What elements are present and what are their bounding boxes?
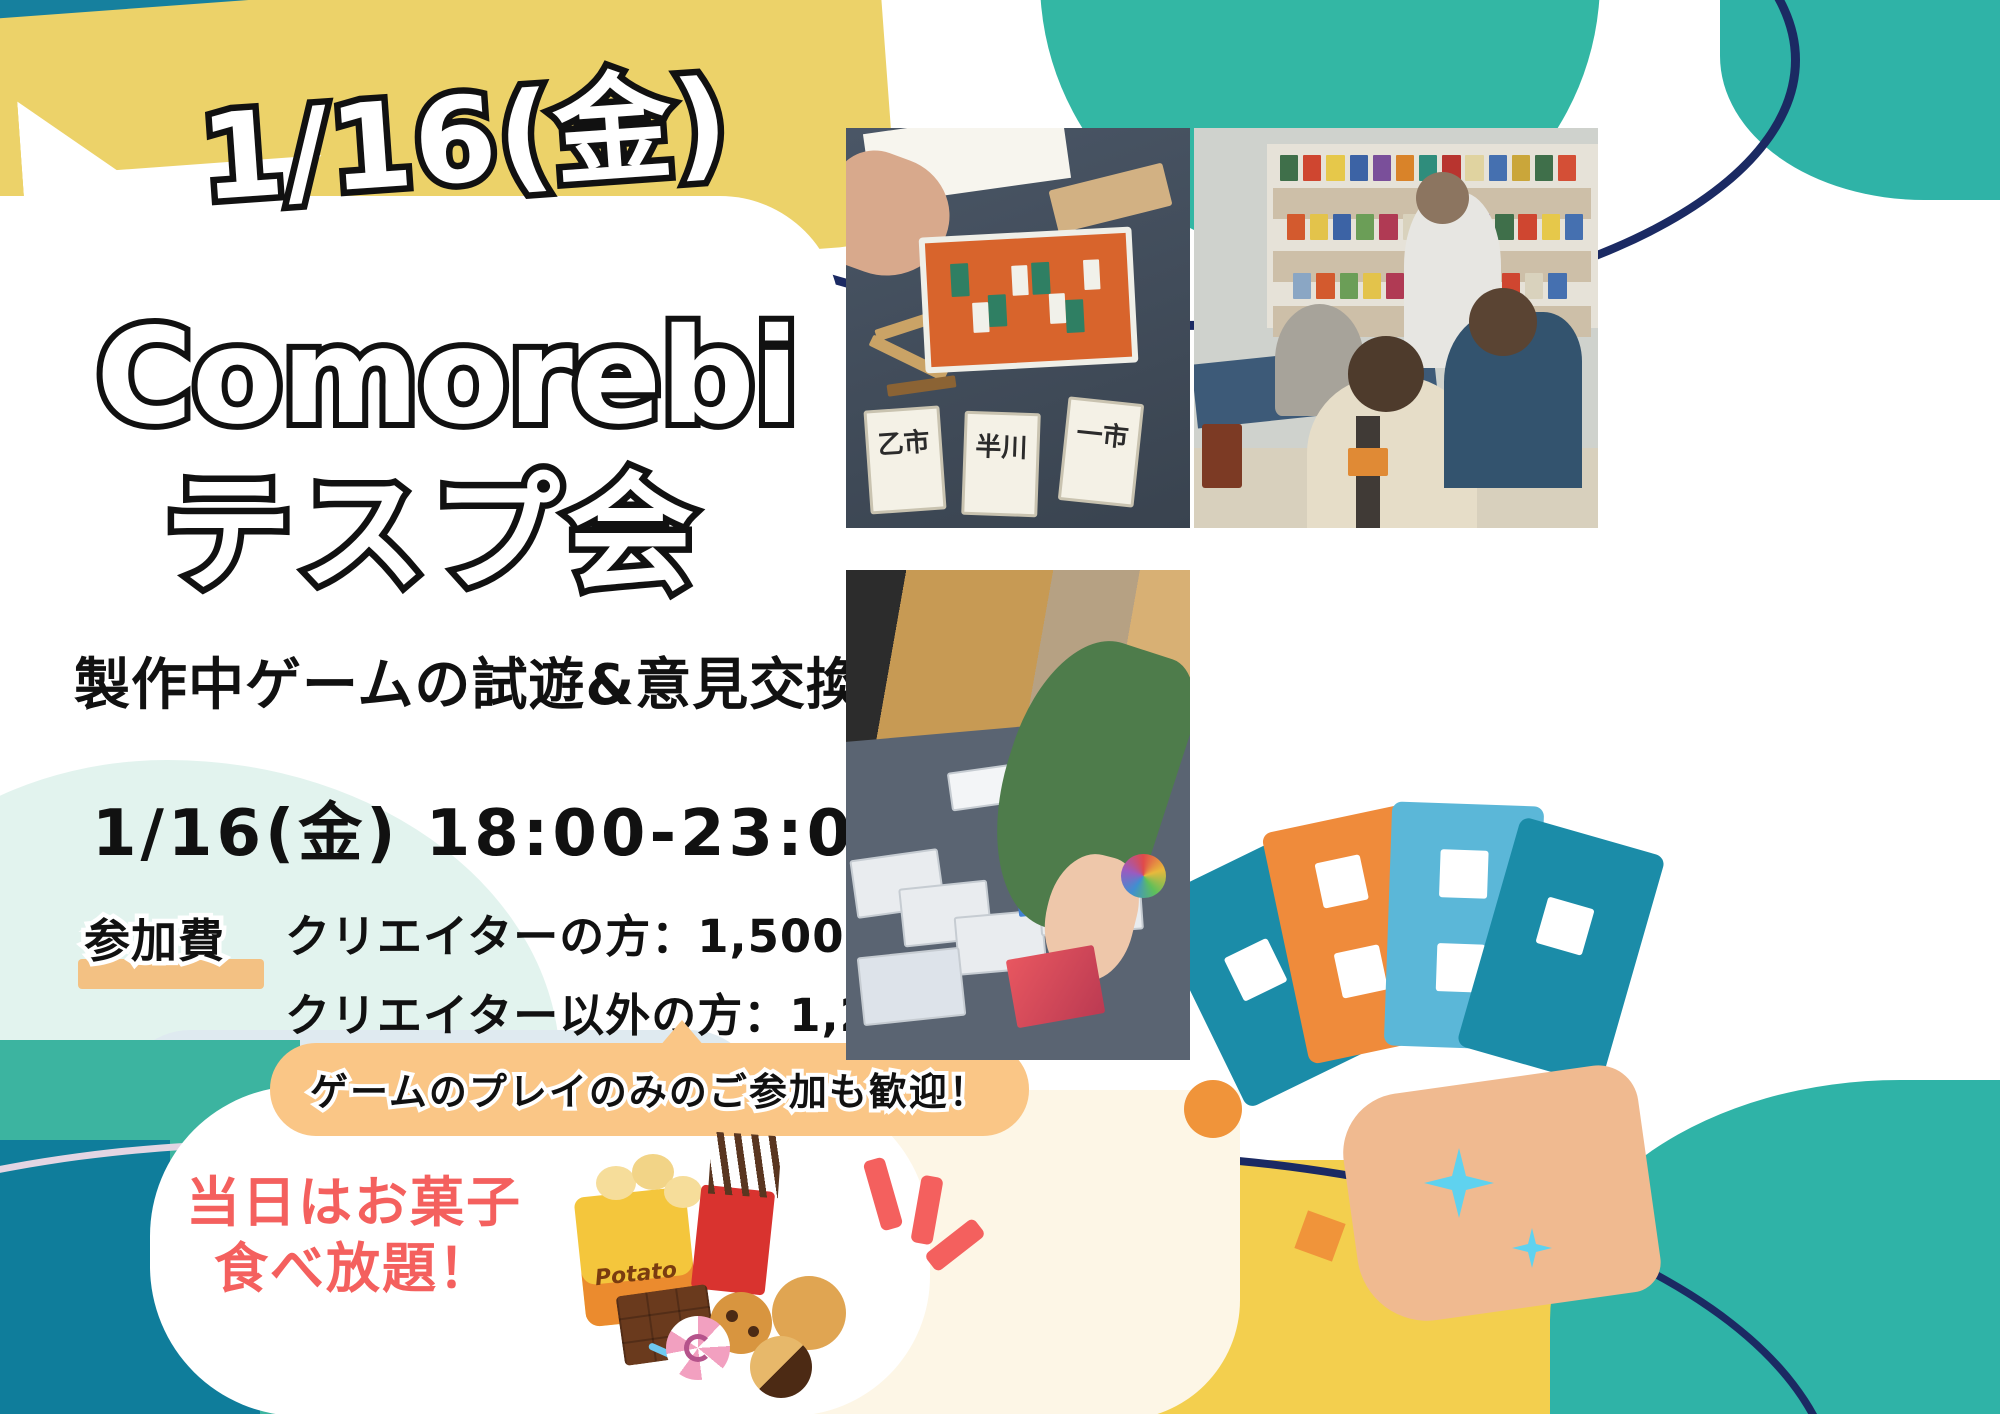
photo2-game-box: [1333, 214, 1351, 240]
photo2-game-box: [1379, 214, 1397, 240]
photo2-game-box: [1535, 155, 1553, 181]
decor-orange-square: [1294, 1210, 1345, 1261]
photo1-tile-green: [988, 294, 1008, 327]
chip-1: [596, 1166, 636, 1200]
card-pip: [1439, 849, 1489, 899]
photo2-person-head-3: [1469, 288, 1538, 356]
photo2-game-box: [1548, 273, 1566, 299]
sweets-note-line2: 食べ放題！: [186, 1236, 522, 1302]
ribbon-date-text: 1/16(金): [195, 26, 735, 234]
chip-3: [664, 1176, 702, 1208]
photo2-game-box: [1525, 273, 1543, 299]
lollipop-swirl: [684, 1334, 712, 1362]
photo-hand-playing-cards: [846, 570, 1190, 1060]
photo2-game-box: [1363, 273, 1381, 299]
photo2-game-box: [1495, 214, 1513, 240]
fee-label: 参加費: [84, 905, 225, 971]
photo2-person-head-2: [1348, 336, 1425, 412]
photo1-game-board: [918, 227, 1138, 374]
photo2-game-box: [1512, 155, 1530, 181]
card-pip: [1314, 854, 1369, 909]
pocky-sticks: [708, 1132, 782, 1199]
photo2-game-box: [1280, 155, 1298, 181]
decor-green-corner-top-right: [1720, 0, 2000, 200]
photo2-game-box: [1542, 214, 1560, 240]
card-pip: [1535, 896, 1594, 955]
photo1-card-ichi: 一市: [1057, 396, 1143, 507]
photo1-tile-white: [1010, 265, 1028, 296]
hand-holding-cards: [1335, 1060, 1664, 1330]
card-pip: [1224, 938, 1288, 1002]
decor-ribbon-notch: [17, 91, 183, 331]
event-datetime: 1/16(金) 18:00-23:00: [92, 782, 904, 874]
snacks-illustration: Potato: [560, 1140, 880, 1390]
photo2-game-box: [1350, 155, 1368, 181]
sweets-note: 当日はお菓子 食べ放題！: [186, 1170, 522, 1302]
pocky-box: [691, 1184, 775, 1295]
photo1-tile-green: [1065, 300, 1085, 333]
photo2-game-box: [1303, 155, 1321, 181]
poster-canvas: 1/16(金) Comorebi テスプ会 製作中ゲームの試遊&意見交換会！ 1…: [0, 0, 2000, 1414]
photo2-game-box: [1316, 273, 1334, 299]
photo2-game-box: [1310, 214, 1328, 240]
photo2-game-box: [1465, 155, 1483, 181]
photo3-tile: [856, 947, 966, 1026]
photo2-game-box: [1489, 155, 1507, 181]
photo1-tile-white: [1048, 293, 1066, 324]
welcome-badge-label: ゲームのプレイのみのご参加も歓迎！: [310, 1070, 989, 1114]
photo2-game-box: [1293, 273, 1311, 299]
decor-teal-bottom-left-rect: [0, 1140, 170, 1414]
cookie-crumb-2: [748, 1326, 759, 1337]
emphasis-lines-icon: [862, 1158, 1002, 1288]
photo2-game-box: [1356, 214, 1374, 240]
photo1-tile-white: [972, 302, 990, 333]
tagline: 製作中ゲームの試遊&意見交換会！: [74, 640, 977, 721]
emphasis-line-2: [910, 1175, 943, 1246]
photo1-tile-white: [1083, 259, 1101, 290]
photo2-drink-glass: [1202, 424, 1242, 488]
half-dipped-cookie: [750, 1336, 812, 1398]
photo2-game-box: [1386, 273, 1404, 299]
photo2-person-head-1: [1416, 172, 1469, 224]
photo1-tile-green: [1030, 262, 1050, 295]
decor-orange-dot: [1184, 1080, 1242, 1138]
photo2-game-box: [1373, 155, 1391, 181]
cookie-crumb-1: [726, 1310, 738, 1322]
card-pip: [1334, 944, 1389, 999]
photo3-color-wheel: [1121, 854, 1166, 898]
photo2-game-box: [1326, 155, 1344, 181]
photo-shop-shelves-players: [1194, 128, 1598, 528]
photo2-game-box: [1340, 273, 1358, 299]
photo2-game-box: [1287, 214, 1305, 240]
photo2-game-box: [1396, 155, 1414, 181]
photo1-tile-green: [950, 263, 970, 296]
playing-cards-illustration: [1180, 780, 1720, 1300]
photo2-bag-buckle: [1348, 448, 1388, 476]
photo1-card-han: 半川: [961, 411, 1040, 518]
emphasis-line-1: [863, 1156, 904, 1231]
photo2-game-box: [1558, 155, 1576, 181]
photo2-game-box: [1565, 214, 1583, 240]
photo2-game-box: [1518, 214, 1536, 240]
photo1-card-otsu: 乙市: [863, 405, 946, 514]
sweets-note-line1: 当日はお菓子: [186, 1170, 522, 1236]
page-title-japanese: テスプ会: [164, 430, 700, 615]
fee-label-group: 参加費: [84, 905, 225, 971]
photo-wooden-tile-game: 乙市 半川 一市: [846, 128, 1190, 528]
